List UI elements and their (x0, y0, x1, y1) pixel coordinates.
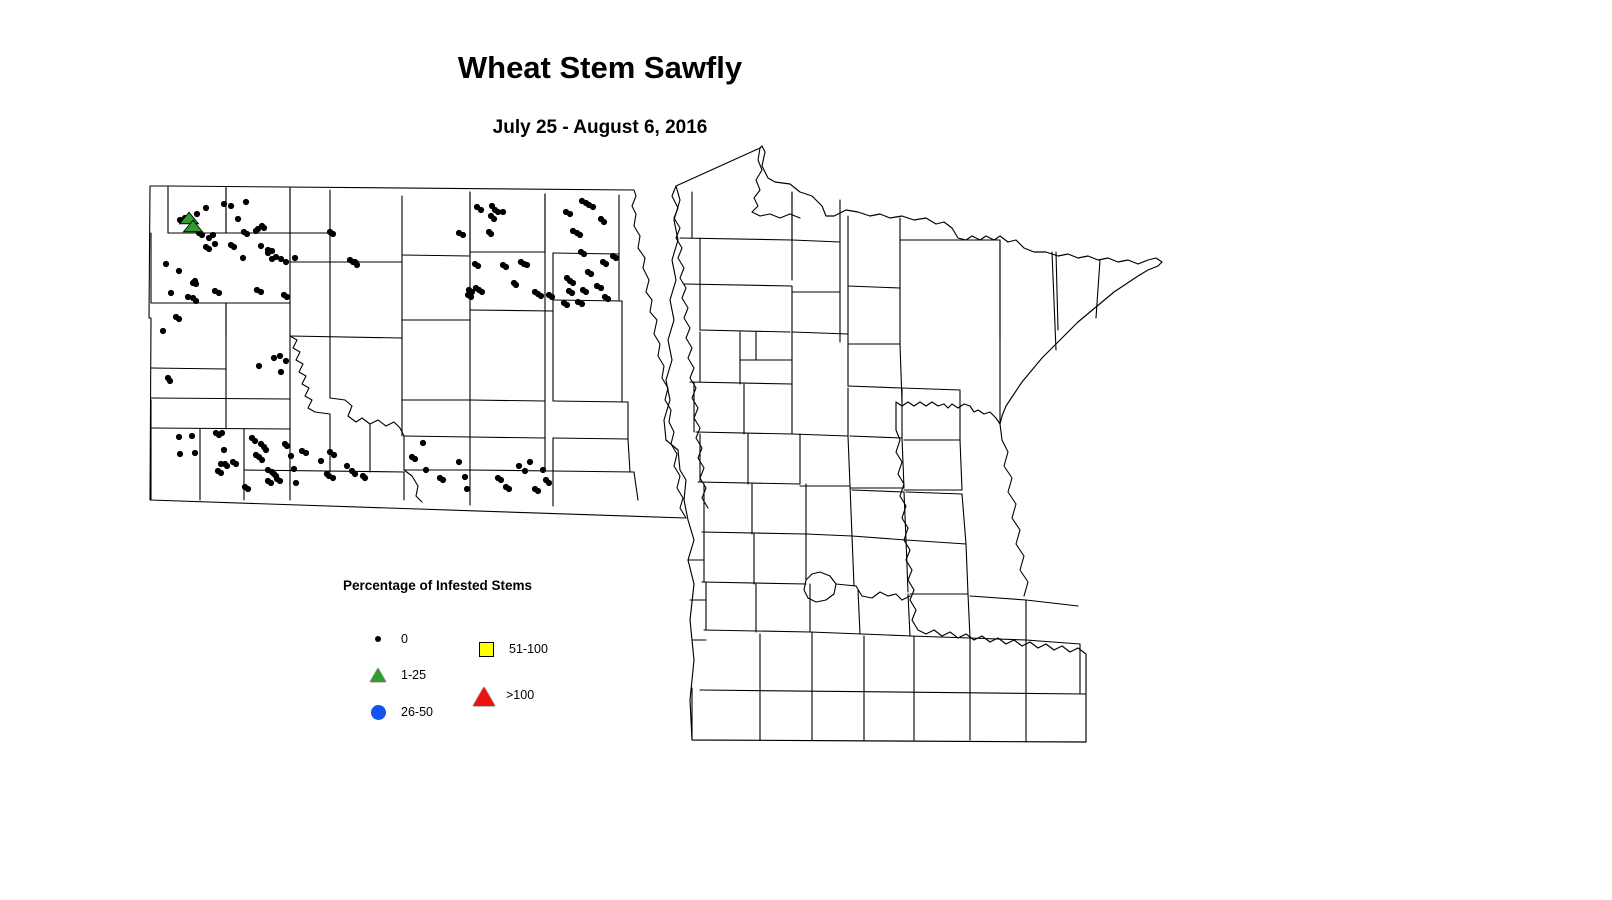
site-marker-zero (412, 456, 418, 462)
site-marker-zero (598, 285, 604, 291)
yellow-square-icon (479, 642, 494, 657)
site-marker-zero (199, 232, 205, 238)
site-marker-zero (546, 480, 552, 486)
legend-label-0: 0 (401, 632, 408, 646)
site-marker-zero (318, 458, 324, 464)
site-marker-zero (601, 219, 607, 225)
legend-label-1-25: 1-25 (401, 668, 426, 682)
site-marker-zero (268, 480, 274, 486)
site-marker-zero (163, 261, 169, 267)
site-marker-zero (228, 203, 234, 209)
site-marker-zero (258, 243, 264, 249)
legend-entry-51-100: 51-100 (474, 638, 548, 660)
red-triangle-icon (473, 687, 495, 706)
legend-swatch-51-100 (474, 638, 500, 660)
site-marker-zero (583, 289, 589, 295)
site-marker-zero (540, 467, 546, 473)
legend-entry-26-50: 26-50 (366, 701, 433, 723)
site-marker-zero (588, 271, 594, 277)
site-marker-zero (194, 211, 200, 217)
site-marker-zero (569, 290, 575, 296)
site-marker-zero (189, 433, 195, 439)
site-marker-zero (524, 262, 530, 268)
site-marker-zero (176, 316, 182, 322)
site-marker-zero (506, 486, 512, 492)
site-marker-zero (167, 378, 173, 384)
site-marker-zero (261, 225, 267, 231)
site-marker-zero (330, 475, 336, 481)
site-marker-zero (283, 259, 289, 265)
site-marker-zero (581, 251, 587, 257)
site-marker-zero (468, 294, 474, 300)
site-marker-zero (216, 290, 222, 296)
site-marker-zero (219, 430, 225, 436)
site-marker-zero (176, 268, 182, 274)
site-marker-zero (577, 232, 583, 238)
site-marker-zero (330, 231, 336, 237)
site-marker-zero (193, 298, 199, 304)
site-marker-zero (503, 264, 509, 270)
site-marker-zero (292, 255, 298, 261)
green-triangle-icon (370, 668, 386, 682)
site-marker-zero (243, 199, 249, 205)
site-marker-zero (168, 290, 174, 296)
site-marker-zero (259, 457, 265, 463)
site-marker-zero (212, 241, 218, 247)
site-marker-zero (192, 450, 198, 456)
legend-title: Percentage of Infested Stems (343, 578, 532, 593)
legend-swatch-0 (366, 628, 392, 650)
legend-label-26-50: 26-50 (401, 705, 433, 719)
site-marker-zero (277, 478, 283, 484)
site-marker-zero (218, 470, 224, 476)
legend-entry-1-25: 1-25 (366, 664, 426, 686)
site-marker-zero (271, 355, 277, 361)
site-marker-zero (362, 475, 368, 481)
site-marker-zero (265, 250, 271, 256)
legend-label-51-100: 51-100 (509, 642, 548, 656)
site-marker-zero (535, 488, 541, 494)
legend-swatch-1-25 (366, 664, 392, 686)
site-marker-zero (491, 216, 497, 222)
site-marker-zero (522, 468, 528, 474)
site-marker-zero (352, 471, 358, 477)
site-marker-zero (221, 447, 227, 453)
site-marker-zero (293, 480, 299, 486)
site-marker-zero (440, 477, 446, 483)
small-black-dot-icon (375, 636, 381, 642)
legend-swatch-26-50 (366, 701, 392, 723)
site-marker-zero (253, 228, 259, 234)
county-boundaries (149, 146, 1162, 742)
site-marker-zero (244, 231, 250, 237)
legend-entry-0: 0 (366, 628, 408, 650)
site-marker-zero (456, 459, 462, 465)
site-marker-zero (420, 440, 426, 446)
site-marker-zero (277, 353, 283, 359)
site-marker-zero (538, 293, 544, 299)
site-marker-zero (331, 452, 337, 458)
site-marker-zero (206, 246, 212, 252)
site-marker-zero (498, 477, 504, 483)
site-marker-zero (613, 255, 619, 261)
site-marker-zero (240, 255, 246, 261)
blue-circle-icon (371, 705, 386, 720)
legend-entry-over-100: >100 (471, 684, 534, 706)
site-marker-zero (252, 438, 258, 444)
site-marker-zero (488, 231, 494, 237)
site-marker-zero (263, 447, 269, 453)
site-marker-zero (579, 301, 585, 307)
site-marker-zero (605, 296, 611, 302)
wheat-stem-sawfly-map-figure: Wheat Stem Sawfly July 25 - August 6, 20… (0, 0, 1612, 900)
legend-label-over-100: >100 (506, 688, 534, 702)
site-marker-zero (603, 261, 609, 267)
site-marker-zero (478, 207, 484, 213)
site-marker-zero (256, 363, 262, 369)
site-marker-zero (278, 369, 284, 375)
site-marker-zero (235, 216, 241, 222)
site-marker-zero (160, 328, 166, 334)
site-marker-zero (460, 232, 466, 238)
county-map (0, 0, 1612, 900)
site-marker-zero (284, 443, 290, 449)
site-marker-zero (203, 205, 209, 211)
site-marker-zero (564, 302, 570, 308)
site-marker-zero (500, 209, 506, 215)
site-marker-zero (288, 453, 294, 459)
site-marker-zero (233, 461, 239, 467)
site-marker-zero (567, 211, 573, 217)
site-marker-zero (245, 486, 251, 492)
site-marker-zero (303, 450, 309, 456)
site-marker-zero (527, 459, 533, 465)
site-marker-zero (549, 294, 555, 300)
site-marker-zero (193, 281, 199, 287)
site-marker-zero (221, 201, 227, 207)
site-marker-zero (475, 263, 481, 269)
site-marker-zero (269, 256, 275, 262)
site-marker-zero (284, 294, 290, 300)
site-marker-zero (224, 463, 230, 469)
legend-swatch-over-100 (471, 684, 497, 706)
site-marker-zero (464, 486, 470, 492)
site-marker-zero (291, 466, 297, 472)
site-marker-zero (176, 434, 182, 440)
site-marker-zero (513, 282, 519, 288)
site-marker-zero (423, 467, 429, 473)
site-marker-zero (258, 289, 264, 295)
site-marker-zero (570, 280, 576, 286)
site-marker-zero (177, 451, 183, 457)
site-marker-zero (344, 463, 350, 469)
site-marker-zero (231, 244, 237, 250)
site-marker-zero (462, 474, 468, 480)
site-marker-zero (210, 232, 216, 238)
site-marker-zero (283, 358, 289, 364)
site-marker-zero (590, 204, 596, 210)
site-marker-zero (350, 259, 356, 265)
site-marker-zero (516, 463, 522, 469)
sample-sites-zero-percent (160, 198, 619, 494)
site-marker-zero (479, 289, 485, 295)
